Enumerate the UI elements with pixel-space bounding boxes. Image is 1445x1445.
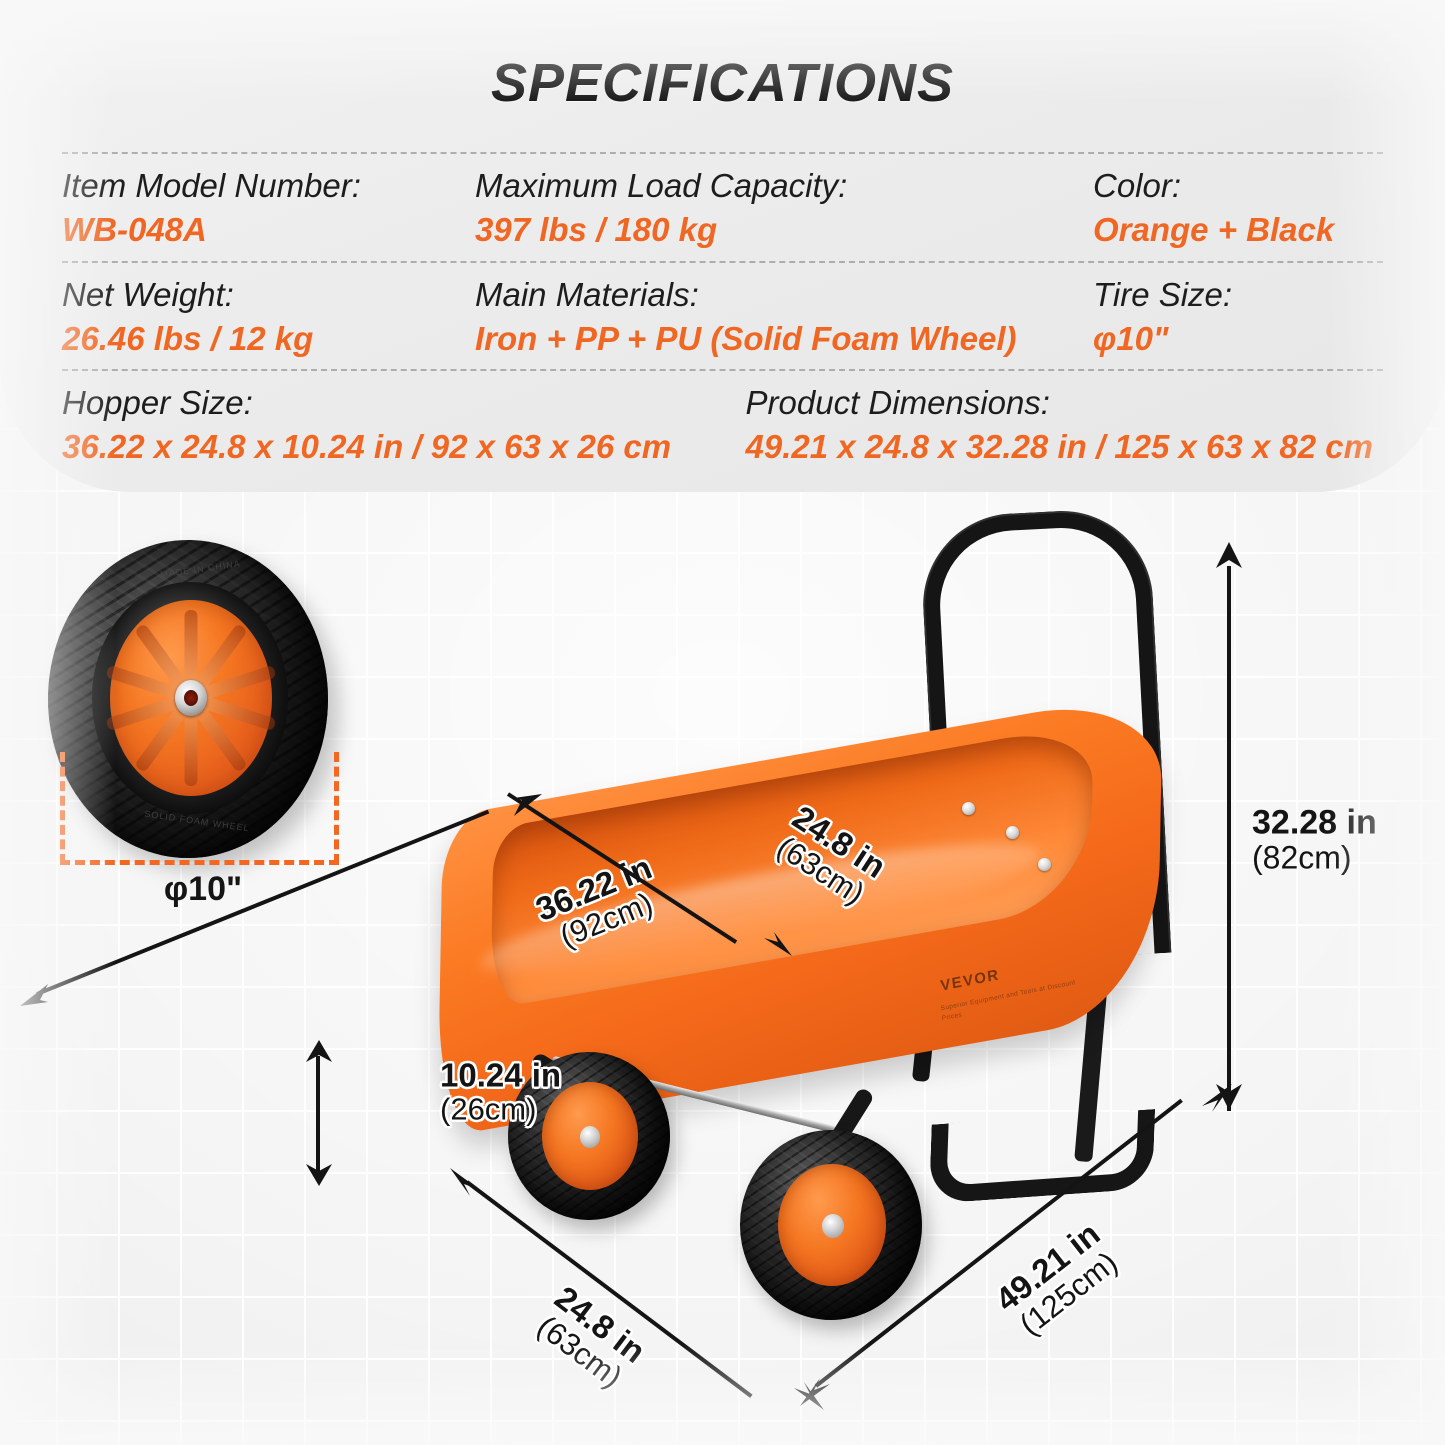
bracket-right-tick xyxy=(334,752,339,864)
arrowhead-icon xyxy=(1198,1082,1234,1118)
dimension-line-overall-height xyxy=(1227,566,1231,1111)
tray-rivet xyxy=(1006,826,1019,839)
spec-value: WB-048A xyxy=(62,210,465,250)
tray-rivet xyxy=(1038,858,1051,871)
spec-cell-color: Color: Orange + Black xyxy=(1093,166,1383,251)
spec-value: Iron + PP + PU (Solid Foam Wheel) xyxy=(475,319,1083,359)
spec-label: Product Dimensions: xyxy=(746,383,1373,423)
specifications-panel: SPECIFICATIONS Item Model Number: WB-048… xyxy=(0,0,1445,492)
spec-value: Orange + Black xyxy=(1093,210,1373,250)
spec-divider xyxy=(62,369,1383,371)
spec-label: Main Materials: xyxy=(475,275,1083,315)
arrowhead-icon xyxy=(306,1040,332,1066)
spec-cell-maximum-load-capacity: Maximum Load Capacity: 397 lbs / 180 kg xyxy=(475,166,1093,251)
spec-value: φ10" xyxy=(1093,319,1373,359)
spec-cell-main-materials: Main Materials: Iron + PP + PU (Solid Fo… xyxy=(475,275,1093,360)
spec-label: Item Model Number: xyxy=(62,166,465,206)
spec-cell-hopper-size: Hopper Size: 36.22 x 24.8 x 10.24 in / 9… xyxy=(62,383,746,468)
spec-divider xyxy=(62,261,1383,263)
spec-cell-net-weight: Net Weight: 26.46 lbs / 12 kg xyxy=(62,275,475,360)
spec-value: 26.46 lbs / 12 kg xyxy=(62,319,465,359)
spec-label: Net Weight: xyxy=(62,275,465,315)
spec-cell-tire-size: Tire Size: φ10" xyxy=(1093,275,1383,360)
cart-wheel-front xyxy=(740,1130,922,1320)
spec-value: 397 lbs / 180 kg xyxy=(475,210,1083,250)
arrowhead-icon xyxy=(760,926,796,962)
cart-frame-foot xyxy=(929,1109,1155,1204)
callout-hopper-depth: 10.24 in (26cm) xyxy=(440,1058,561,1125)
wheel-axle-cap xyxy=(175,680,207,716)
arrowhead-icon xyxy=(18,976,54,1012)
spec-cell-item-model-number: Item Model Number: WB-048A xyxy=(62,166,475,251)
spec-row: Hopper Size: 36.22 x 24.8 x 10.24 in / 9… xyxy=(62,371,1383,478)
spec-label: Hopper Size: xyxy=(62,383,736,423)
spec-value: 49.21 x 24.8 x 32.28 in / 125 x 63 x 82 … xyxy=(746,427,1373,467)
arrowhead-icon xyxy=(448,1164,484,1200)
spec-label: Tire Size: xyxy=(1093,275,1373,315)
arrowhead-icon xyxy=(1216,542,1242,572)
spec-row: Item Model Number: WB-048A Maximum Load … xyxy=(62,154,1383,261)
product-illustration: MADE IN CHINA SOLID FOAM WHEEL φ10" VEVO… xyxy=(0,492,1445,1445)
bracket-left-tick xyxy=(60,752,65,864)
tray-rivet xyxy=(962,802,975,815)
wheel-detail-image: MADE IN CHINA SOLID FOAM WHEEL φ10" xyxy=(48,540,338,870)
spec-cell-product-dimensions: Product Dimensions: 49.21 x 24.8 x 32.28… xyxy=(746,383,1383,468)
spec-value: 36.22 x 24.8 x 10.24 in / 92 x 63 x 26 c… xyxy=(62,427,736,467)
spec-label: Maximum Load Capacity: xyxy=(475,166,1083,206)
spec-label: Color: xyxy=(1093,166,1373,206)
spec-divider xyxy=(62,152,1383,154)
arrowhead-icon xyxy=(798,1376,834,1412)
bracket-base-line xyxy=(60,860,339,865)
wheel-diameter-bracket: φ10" xyxy=(60,752,346,888)
callout-overall-height: 32.28 in (82cm) xyxy=(1252,805,1377,874)
wheel-diameter-label: φ10" xyxy=(60,870,346,909)
arrowhead-icon xyxy=(306,1160,332,1186)
spec-row: Net Weight: 26.46 lbs / 12 kg Main Mater… xyxy=(62,263,1383,370)
page-title: SPECIFICATIONS xyxy=(62,0,1383,110)
